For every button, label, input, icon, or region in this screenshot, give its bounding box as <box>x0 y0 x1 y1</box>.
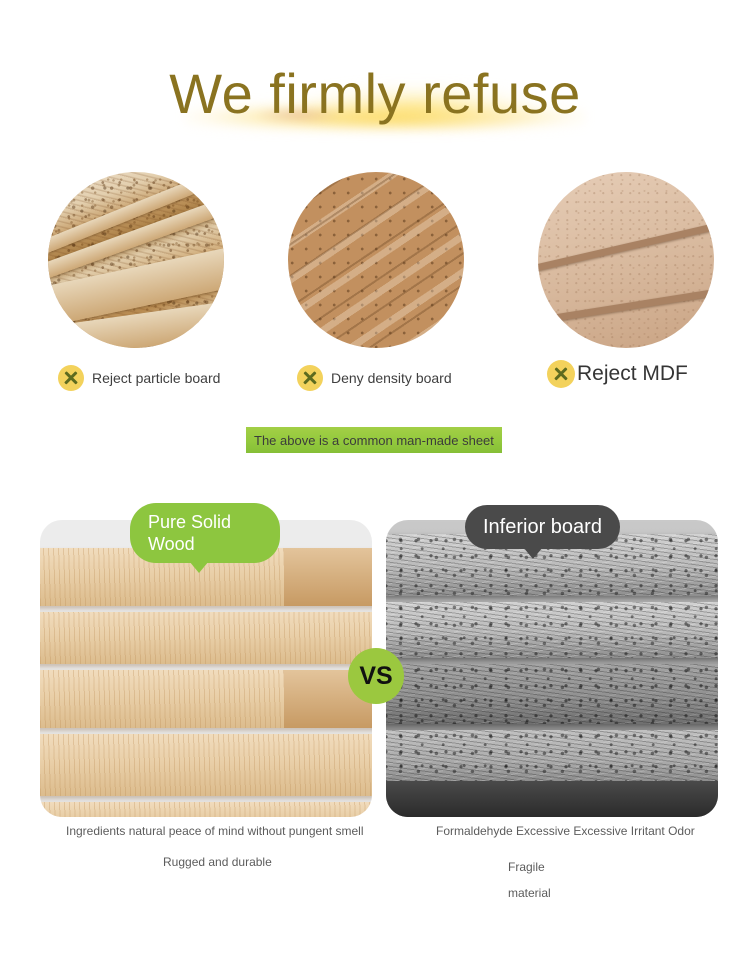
x-circle-icon <box>58 365 84 391</box>
wood-board-edge <box>284 548 372 606</box>
wood-board-plank <box>40 802 372 817</box>
reject-particle-board-label: Reject particle board <box>58 365 220 391</box>
page-title-section: We firmly refuse <box>0 58 750 148</box>
rejected-materials-gallery <box>0 172 750 352</box>
label-text: Reject particle board <box>92 370 220 386</box>
particle-board-photo <box>48 172 224 348</box>
man-made-sheet-banner: The above is a common man-made sheet <box>246 427 502 453</box>
page-title: We firmly refuse <box>0 58 750 130</box>
gray-particle-board-stack-photo <box>386 520 718 817</box>
x-circle-icon <box>297 365 323 391</box>
x-circle-icon <box>547 360 575 388</box>
pure-solid-wood-badge: Pure Solid Wood <box>130 503 280 563</box>
deny-density-board-label: Deny density board <box>297 365 452 391</box>
wood-board-plank <box>40 734 372 796</box>
photo-shadow <box>386 781 718 817</box>
vs-badge: VS <box>348 648 404 704</box>
label-text: Deny density board <box>331 370 452 386</box>
density-board-photo <box>288 172 464 348</box>
chipboard-plank <box>386 730 718 788</box>
badge-text: Pure Solid Wood <box>148 511 262 555</box>
inferior-board-caption-sub: Fragile <box>508 860 545 874</box>
reject-mdf-label: Reject MDF <box>547 360 688 388</box>
chipboard-plank <box>386 602 718 658</box>
wood-board-plank <box>40 612 372 664</box>
banner-text: The above is a common man-made sheet <box>254 433 494 448</box>
solid-wood-caption-sub: Rugged and durable <box>163 855 323 869</box>
solid-wood-caption-main: Ingredients natural peace of mind withou… <box>66 824 366 838</box>
inferior-board-badge: Inferior board <box>465 505 620 549</box>
chipboard-plank <box>386 664 718 724</box>
badge-text: Inferior board <box>483 516 602 538</box>
label-text: Reject MDF <box>577 362 688 386</box>
inferior-board-caption-main: Formaldehyde Excessive Excessive Irritan… <box>436 824 706 838</box>
inferior-board-caption-sub2: material <box>508 886 551 900</box>
mdf-board-photo <box>538 172 714 348</box>
density-board-texture <box>288 172 464 348</box>
promo-page: We firmly refuse Reject particle board D… <box>0 0 750 978</box>
